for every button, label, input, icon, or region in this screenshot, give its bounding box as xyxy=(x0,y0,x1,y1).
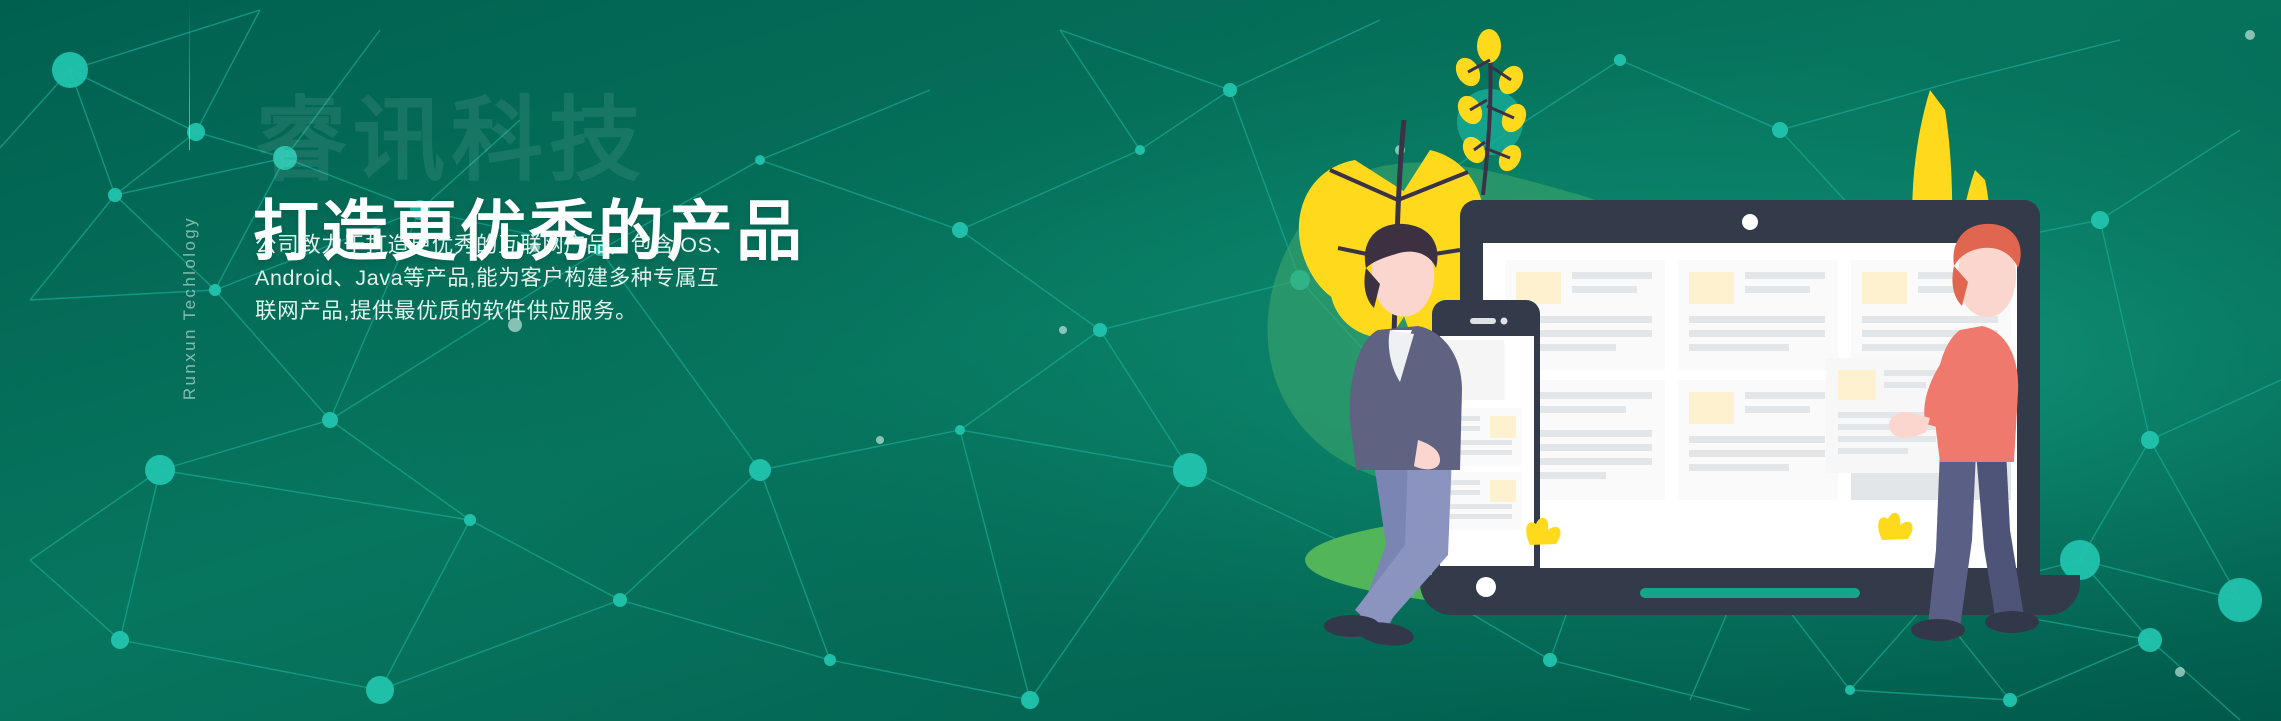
description-line-1: 公司致力于打造更优秀的互联网产品，包含iOS、 xyxy=(255,229,815,262)
description-paragraph: 公司致力于打造更优秀的互联网产品，包含iOS、 Android、Java等产品,… xyxy=(255,229,815,328)
description-line-3: 联网产品,提供最优质的软件供应服务。 xyxy=(255,295,815,328)
description-line-2: Android、Java等产品,能为客户构建多种专属互 xyxy=(255,262,815,295)
watermark-company-name: 睿讯科技 xyxy=(255,95,647,187)
hero-banner: Runxun Techlology 睿讯科技 打造更优秀的产品 公司致力于打造更… xyxy=(0,0,2281,721)
vertical-brand-name: Runxun Techlology xyxy=(170,120,210,400)
vertical-brand-label: Runxun Techlology xyxy=(180,216,200,400)
